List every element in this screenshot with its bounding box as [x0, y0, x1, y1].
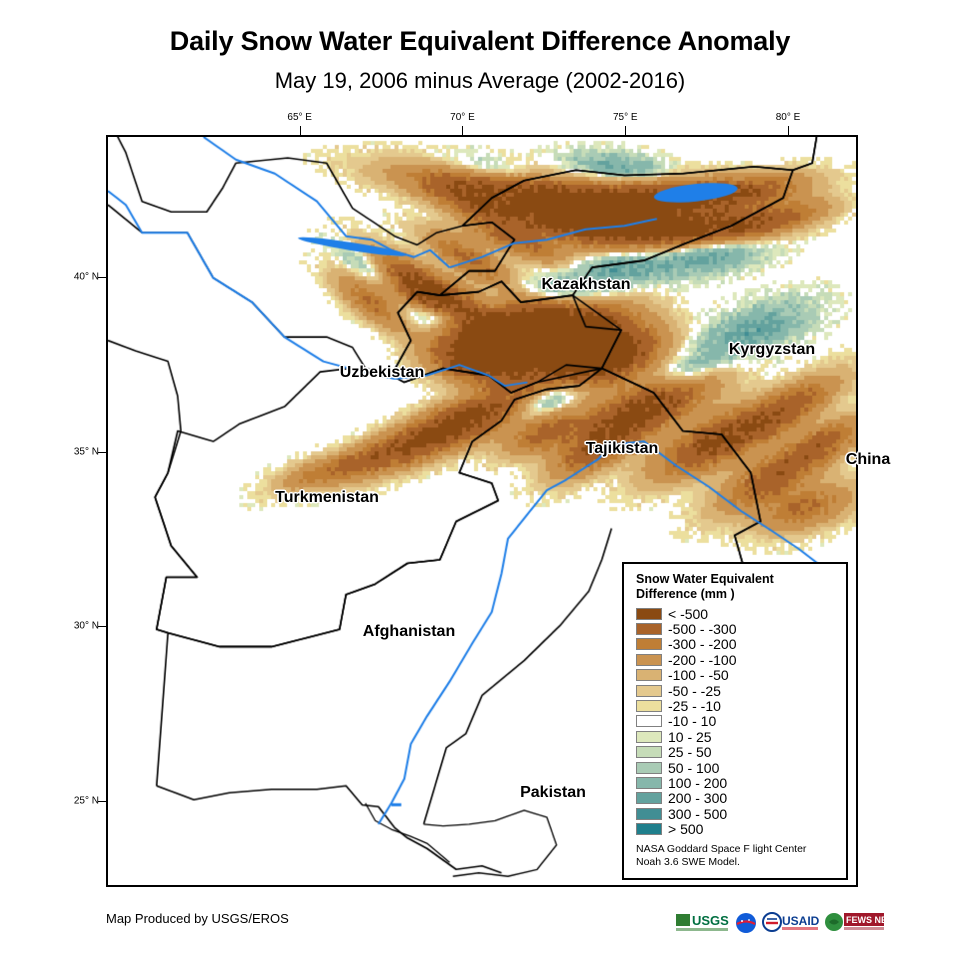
lon-tick-label: 75° E [613, 112, 638, 123]
svg-text:USAID: USAID [782, 914, 820, 928]
legend-label: -300 - -200 [668, 637, 736, 651]
legend-label: -500 - -300 [668, 622, 736, 636]
legend-row: -100 - -50 [636, 668, 836, 683]
legend-row: 300 - 500 [636, 806, 836, 821]
legend-row: -500 - -300 [636, 621, 836, 636]
legend-entries: < -500-500 - -300-300 - -200-200 - -100-… [636, 606, 836, 837]
legend-source-line2: Noah 3.6 SWE Model. [636, 856, 836, 869]
legend-swatch [636, 762, 662, 774]
lat-tick-label: 30° N [63, 621, 99, 632]
legend-row: -300 - -200 [636, 637, 836, 652]
country-label-uzbekistan: Uzbekistan [340, 364, 424, 382]
agency-logos: USGSUSAIDFEWS NET [676, 908, 860, 938]
legend-row: 200 - 300 [636, 791, 836, 806]
legend-swatch [636, 808, 662, 820]
country-label-tajikistan: Tajikistan [586, 440, 659, 458]
legend-title-line1: Snow Water Equivalent [636, 572, 836, 587]
legend-swatch [636, 623, 662, 635]
country-label-pakistan: Pakistan [520, 784, 586, 802]
legend-row: -50 - -25 [636, 683, 836, 698]
fewsnet-logo: FEWS NET [824, 910, 886, 936]
legend-row: 10 - 25 [636, 729, 836, 744]
legend-swatch [636, 792, 662, 804]
legend-swatch [636, 715, 662, 727]
legend-label: -10 - 10 [668, 714, 716, 728]
legend-swatch [636, 654, 662, 666]
lat-tick-label: 35° N [63, 446, 99, 457]
page-subtitle: May 19, 2006 minus Average (2002-2016) [0, 68, 960, 94]
legend-label: -100 - -50 [668, 668, 729, 682]
legend-swatch [636, 685, 662, 697]
legend-label: 25 - 50 [668, 745, 712, 759]
legend-swatch [636, 823, 662, 835]
lon-tick-mark [462, 126, 463, 135]
legend-panel: Snow Water Equivalent Difference (mm ) <… [622, 562, 848, 880]
lat-tick-mark [98, 277, 107, 278]
legend-source-line1: NASA Goddard Space F light Center [636, 843, 836, 856]
country-label-china: China [846, 451, 890, 469]
svg-text:USGS: USGS [692, 913, 729, 928]
footer-credit: Map Produced by USGS/EROS [106, 911, 289, 926]
lon-tick-mark [788, 126, 789, 135]
country-label-kyrgyzstan: Kyrgyzstan [729, 341, 815, 359]
legend-swatch [636, 608, 662, 620]
lat-tick-mark [98, 801, 107, 802]
lat-tick-mark [98, 626, 107, 627]
legend-swatch [636, 638, 662, 650]
legend-label: -25 - -10 [668, 699, 721, 713]
legend-row: 100 - 200 [636, 775, 836, 790]
lon-tick-label: 80° E [776, 112, 801, 123]
lat-tick-mark [98, 452, 107, 453]
legend-row: -25 - -10 [636, 698, 836, 713]
usaid-logo: USAID [762, 910, 820, 936]
legend-label: 100 - 200 [668, 776, 727, 790]
legend-swatch [636, 777, 662, 789]
legend-source: NASA Goddard Space F light Center Noah 3… [636, 843, 836, 869]
page-title: Daily Snow Water Equivalent Difference A… [0, 26, 960, 57]
legend-row: > 500 [636, 821, 836, 836]
country-label-afghanistan: Afghanistan [363, 623, 455, 641]
legend-row: 25 - 50 [636, 745, 836, 760]
legend-swatch [636, 731, 662, 743]
legend-title: Snow Water Equivalent Difference (mm ) [636, 572, 836, 602]
usgs-logo: USGS [676, 910, 730, 936]
lat-tick-label: 25° N [63, 796, 99, 807]
lon-tick-mark [625, 126, 626, 135]
legend-label: > 500 [668, 822, 703, 836]
legend-label: 10 - 25 [668, 730, 712, 744]
lon-tick-mark [300, 126, 301, 135]
legend-swatch [636, 669, 662, 681]
legend-swatch [636, 700, 662, 712]
legend-label: 50 - 100 [668, 761, 719, 775]
legend-title-line2: Difference (mm ) [636, 587, 836, 602]
legend-row: -10 - 10 [636, 714, 836, 729]
legend-label: -50 - -25 [668, 684, 721, 698]
lat-tick-label: 40° N [63, 271, 99, 282]
legend-label: 300 - 500 [668, 807, 727, 821]
legend-row: 50 - 100 [636, 760, 836, 775]
legend-label: < -500 [668, 607, 708, 621]
lon-tick-label: 70° E [450, 112, 475, 123]
svg-text:FEWS NET: FEWS NET [846, 915, 886, 925]
legend-label: -200 - -100 [668, 653, 736, 667]
legend-label: 200 - 300 [668, 791, 727, 805]
country-label-kazakhstan: Kazakhstan [542, 276, 631, 294]
lon-tick-label: 65° E [287, 112, 312, 123]
nasa-logo [734, 910, 758, 936]
legend-row: -200 - -100 [636, 652, 836, 667]
legend-swatch [636, 746, 662, 758]
country-label-turkmenistan: Turkmenistan [275, 489, 379, 507]
legend-row: < -500 [636, 606, 836, 621]
